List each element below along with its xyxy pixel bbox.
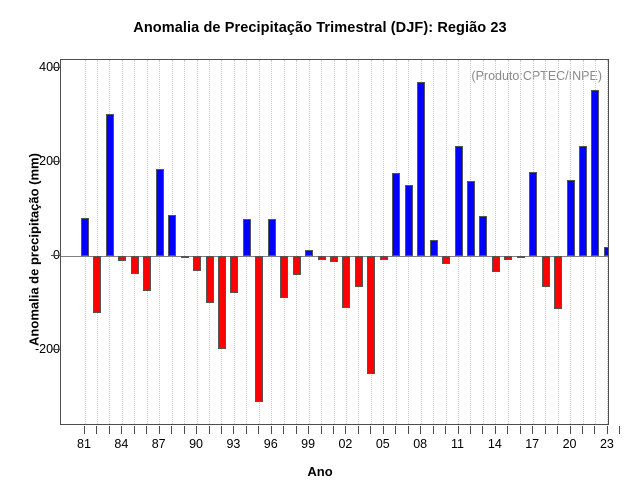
x-tick-mark	[507, 426, 508, 434]
bar-2020	[567, 180, 575, 256]
x-tick-mark	[345, 426, 346, 434]
x-tick-label: 84	[114, 437, 128, 451]
grid-line	[134, 60, 136, 424]
bar-1989	[181, 256, 189, 258]
x-axis-label: Ano	[0, 464, 640, 479]
bar-1993	[230, 256, 238, 293]
bar-2013	[479, 216, 487, 256]
bar-1999	[305, 250, 313, 256]
precipitation-anomaly-chart: Anomalia de Precipitação Trimestral (DJF…	[0, 0, 640, 500]
grid-line	[520, 60, 522, 424]
x-tick-mark	[233, 426, 234, 434]
bar-1997	[280, 256, 288, 298]
bar-2007	[405, 185, 413, 256]
x-tick-mark	[532, 426, 533, 434]
bar-1992	[218, 256, 226, 349]
grid-line	[284, 60, 286, 424]
x-tick-mark	[570, 426, 571, 434]
x-tick-mark	[308, 426, 309, 434]
x-tick-label: 08	[413, 437, 427, 451]
grid-line	[97, 60, 99, 424]
x-tick-mark	[594, 426, 595, 434]
bar-1987	[156, 169, 164, 256]
x-tick-mark	[221, 426, 222, 434]
bar-1981	[81, 218, 89, 256]
x-tick-mark	[146, 426, 147, 434]
x-tick-mark	[258, 426, 259, 434]
y-axis-label: Anomalia de precipitação (mm)	[27, 120, 42, 380]
bar-1988	[168, 215, 176, 256]
bar-1996	[268, 219, 276, 256]
x-tick-mark	[121, 426, 122, 434]
y-tick-mark	[51, 255, 60, 256]
x-tick-mark	[482, 426, 483, 434]
chart-title: Anomalia de Precipitação Trimestral (DJF…	[0, 20, 640, 36]
grid-line	[495, 60, 497, 424]
x-tick-mark	[607, 426, 608, 434]
plot-area: (Produto:CPTEC/INPE)	[60, 59, 609, 425]
bar-2021	[579, 146, 587, 256]
grid-line	[184, 60, 186, 424]
bar-2006	[392, 173, 400, 256]
bar-2004	[367, 256, 375, 374]
x-tick-label: 11	[451, 437, 464, 451]
grid-line	[321, 60, 323, 424]
x-tick-mark	[520, 426, 521, 434]
grid-line	[209, 60, 211, 424]
x-tick-mark	[109, 426, 110, 434]
grid-line	[358, 60, 360, 424]
bar-1990	[193, 256, 201, 271]
x-tick-mark	[159, 426, 160, 434]
x-tick-mark	[408, 426, 409, 434]
bar-2016	[517, 256, 525, 258]
grid-line	[334, 60, 336, 424]
x-tick-mark	[495, 426, 496, 434]
bar-2022	[591, 90, 599, 256]
x-tick-mark	[184, 426, 185, 434]
bar-2019	[554, 256, 562, 309]
x-tick-mark	[420, 426, 421, 434]
x-tick-mark	[445, 426, 446, 434]
x-tick-mark	[84, 426, 85, 434]
y-tick-mark	[51, 67, 60, 68]
bar-2010	[442, 256, 450, 264]
grid-line	[197, 60, 199, 424]
grid-line	[383, 60, 385, 424]
y-tick-mark	[51, 349, 60, 350]
x-tick-mark	[96, 426, 97, 434]
bar-1991	[206, 256, 214, 303]
x-tick-mark	[470, 426, 471, 434]
x-tick-label: 17	[525, 437, 539, 451]
y-tick-mark	[51, 161, 60, 162]
grid-line	[558, 60, 560, 424]
bar-2012	[467, 181, 475, 256]
x-tick-mark	[196, 426, 197, 434]
bar-2009	[430, 240, 438, 256]
x-tick-label: 96	[264, 437, 278, 451]
x-tick-mark	[395, 426, 396, 434]
bar-2005	[380, 256, 388, 260]
x-tick-label: 99	[301, 437, 315, 451]
bar-2015	[504, 256, 512, 260]
bar-2000	[318, 256, 326, 260]
x-tick-mark	[271, 426, 272, 434]
x-tick-mark	[370, 426, 371, 434]
bar-2008	[417, 82, 425, 256]
grid-line	[446, 60, 448, 424]
x-tick-mark	[582, 426, 583, 434]
x-tick-label: 23	[600, 437, 614, 451]
bar-1998	[293, 256, 301, 275]
x-tick-label: 20	[563, 437, 577, 451]
bar-2011	[455, 146, 463, 256]
x-tick-mark	[321, 426, 322, 434]
bar-2001	[330, 256, 338, 262]
bar-2002	[342, 256, 350, 308]
x-tick-mark	[433, 426, 434, 434]
x-tick-mark	[557, 426, 558, 434]
x-tick-mark	[209, 426, 210, 434]
bar-2017	[529, 172, 537, 256]
grid-line	[346, 60, 348, 424]
bar-1995	[255, 256, 263, 402]
x-tick-mark	[545, 426, 546, 434]
bar-1984	[118, 256, 126, 261]
grid-line	[508, 60, 510, 424]
x-tick-label: 81	[77, 437, 91, 451]
grid-line	[607, 60, 609, 424]
bar-1986	[143, 256, 151, 291]
x-tick-mark	[134, 426, 135, 434]
bar-1994	[243, 219, 251, 256]
x-tick-mark	[619, 426, 620, 434]
x-tick-mark	[333, 426, 334, 434]
bar-2023	[604, 247, 609, 256]
grid-line	[234, 60, 236, 424]
x-tick-mark	[458, 426, 459, 434]
x-tick-mark	[383, 426, 384, 434]
x-tick-mark	[283, 426, 284, 434]
grid-line	[147, 60, 149, 424]
bar-2018	[542, 256, 550, 287]
grid-line	[296, 60, 298, 424]
x-tick-label: 93	[226, 437, 240, 451]
x-tick-label: 14	[488, 437, 502, 451]
grid-line	[545, 60, 547, 424]
bar-1985	[131, 256, 139, 274]
x-tick-mark	[171, 426, 172, 434]
grid-line	[221, 60, 223, 424]
x-tick-mark	[246, 426, 247, 434]
bar-1983	[106, 114, 114, 256]
bar-2014	[492, 256, 500, 272]
x-tick-label: 02	[338, 437, 352, 451]
x-tick-mark	[296, 426, 297, 434]
grid-line	[309, 60, 311, 424]
bar-1982	[93, 256, 101, 313]
bar-2003	[355, 256, 363, 287]
x-tick-label: 90	[189, 437, 203, 451]
grid-line	[122, 60, 124, 424]
x-tick-label: 87	[152, 437, 166, 451]
x-tick-mark	[358, 426, 359, 434]
x-tick-label: 05	[376, 437, 390, 451]
